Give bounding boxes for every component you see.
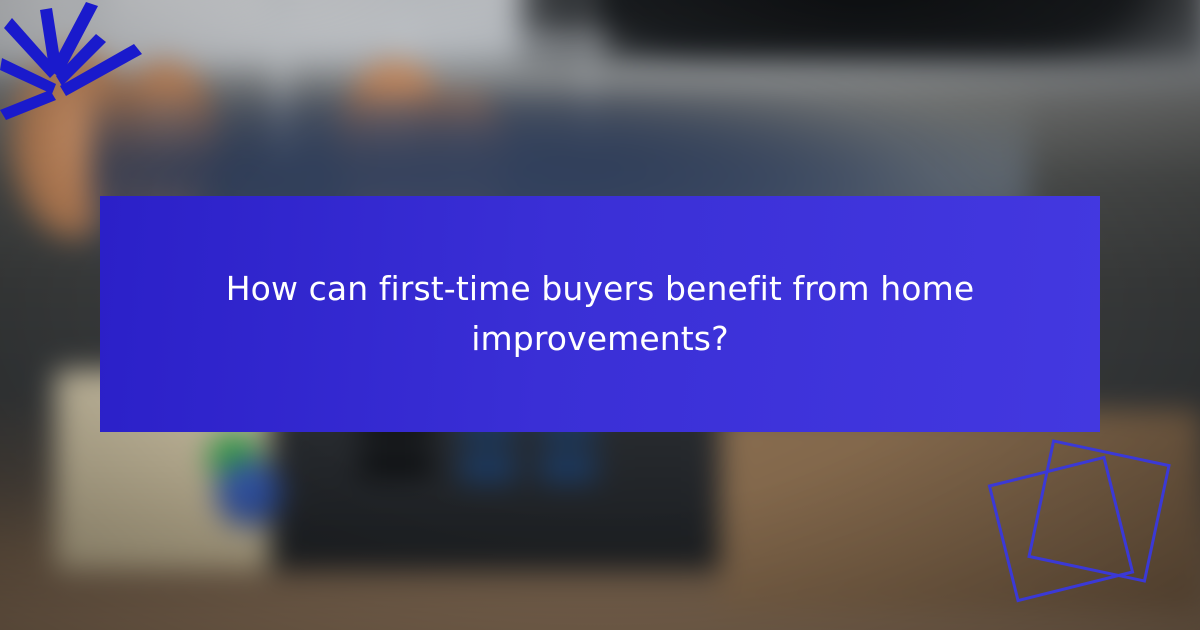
social-card-canvas: How can first-time buyers benefit from h… bbox=[0, 0, 1200, 630]
rotated-squares-accent-icon bbox=[980, 410, 1200, 630]
page-title: How can first-time buyers benefit from h… bbox=[210, 264, 990, 364]
headline-card: How can first-time buyers benefit from h… bbox=[100, 196, 1100, 432]
starburst-accent-icon bbox=[0, 0, 180, 170]
